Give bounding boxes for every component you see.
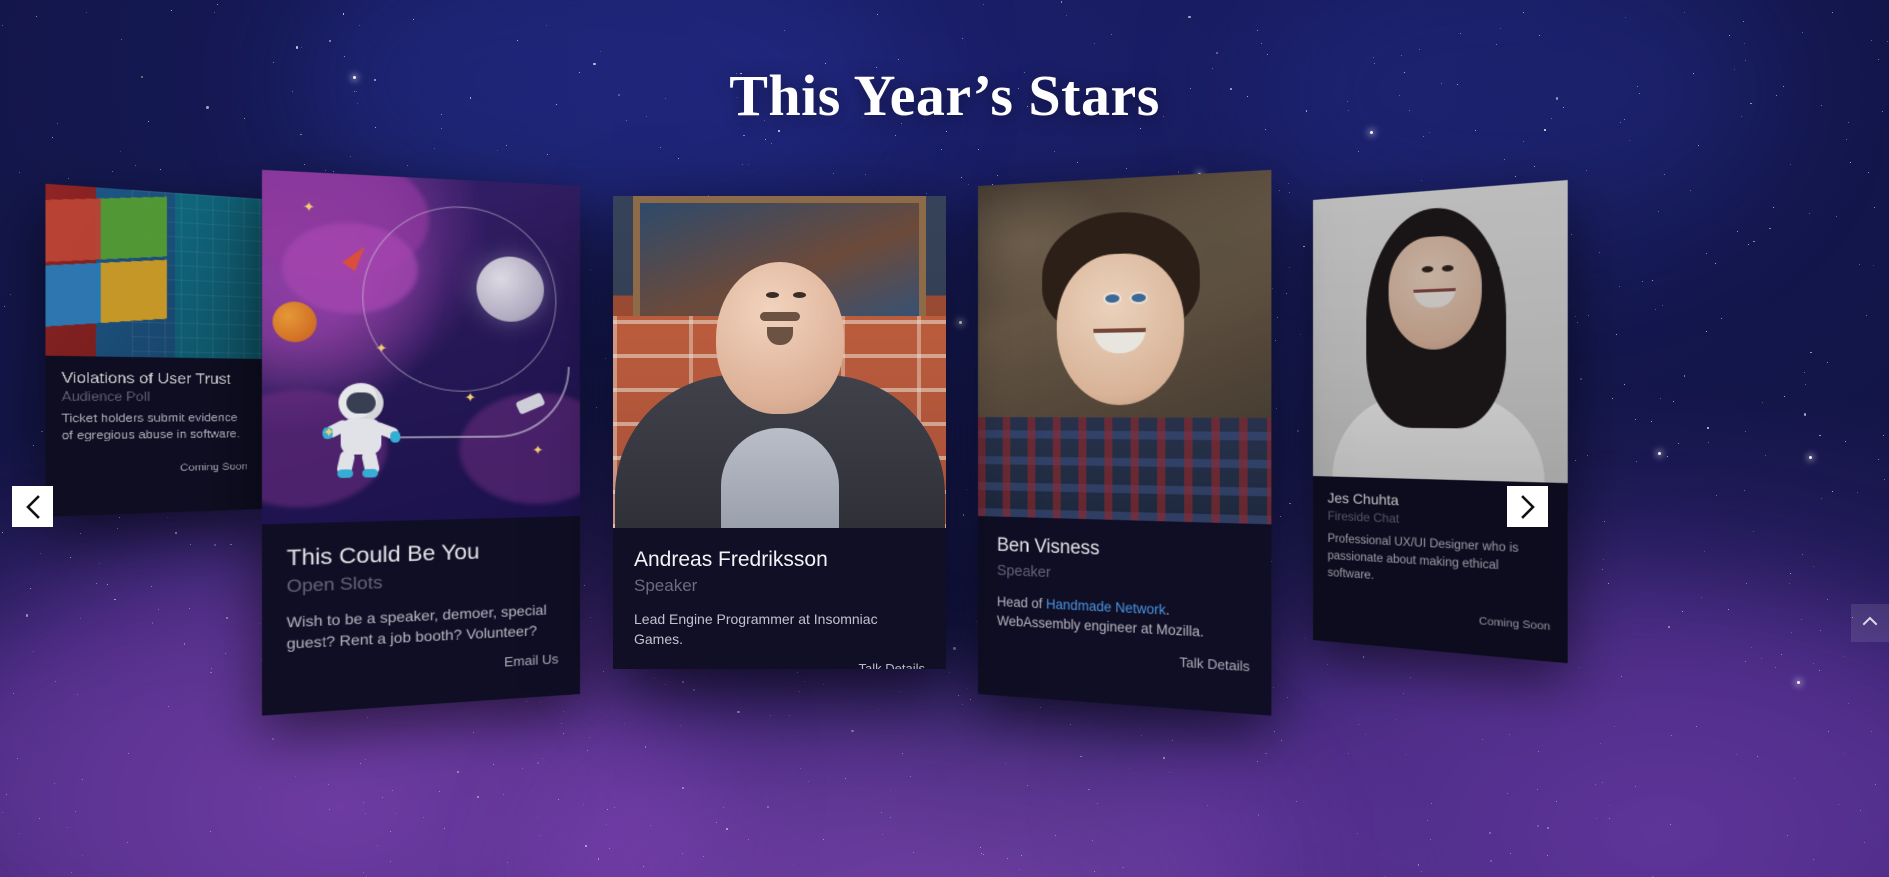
astronaut-space-illustration: ✦ ✦ ✦ ✦ ✦ xyxy=(262,170,580,525)
card-description: Professional UX/UI Designer who is passi… xyxy=(1328,531,1551,596)
card-body: This Could Be You Open Slots Wish to be … xyxy=(262,516,580,702)
tech-collage-image xyxy=(45,184,262,359)
chevron-up-icon xyxy=(1861,614,1879,633)
carousel-next-button[interactable] xyxy=(1507,486,1548,527)
card-description: Ticket holders submit evidence of egregi… xyxy=(62,411,248,446)
chevron-left-icon xyxy=(24,494,42,520)
card-role: Open Slots xyxy=(287,566,559,598)
card-body: Andreas Fredriksson Speaker Lead Engine … xyxy=(613,528,946,669)
ben-visness-photo xyxy=(978,170,1271,525)
card-cta-link[interactable]: Email Us xyxy=(287,651,559,683)
card-role: Speaker xyxy=(634,576,925,596)
card-body: Violations of User Trust Audience Poll T… xyxy=(45,356,262,489)
card-media xyxy=(45,184,262,359)
card-title: Violations of User Trust xyxy=(62,369,248,388)
page-title: This Year’s Stars xyxy=(0,62,1889,129)
carousel-prev-button[interactable] xyxy=(12,486,53,527)
card-cta-link[interactable]: Talk Details xyxy=(634,661,925,669)
card-media xyxy=(978,170,1271,525)
card-cta-link[interactable]: Coming Soon xyxy=(62,461,248,476)
card-cta-link[interactable]: Talk Details xyxy=(997,643,1250,674)
card-media: ✦ ✦ ✦ ✦ ✦ xyxy=(262,170,580,525)
chevron-right-icon xyxy=(1519,494,1537,520)
card-role: Audience Poll xyxy=(62,389,248,404)
speaker-card-violations-of-user-trust[interactable]: Violations of User Trust Audience Poll T… xyxy=(45,184,262,517)
card-role: Speaker xyxy=(997,562,1250,591)
speaker-card-andreas-fredriksson[interactable]: Andreas Fredriksson Speaker Lead Engine … xyxy=(613,196,946,669)
handmade-network-link[interactable]: Handmade Network xyxy=(1046,596,1166,617)
card-description: Wish to be a speaker, demoer, special gu… xyxy=(287,599,559,655)
jes-chuhta-photo xyxy=(1313,180,1568,483)
card-cta-link[interactable]: Coming Soon xyxy=(1328,603,1551,633)
planet-icon xyxy=(272,301,316,342)
desc-prefix: Head of xyxy=(997,594,1046,612)
speaker-card-jes-chuhta[interactable]: Jes Chuhta Fireside Chat Professional UX… xyxy=(1313,180,1568,663)
card-title: Andreas Fredriksson xyxy=(634,547,925,572)
card-description: Lead Engine Programmer at Insomniac Game… xyxy=(634,609,925,650)
back-to-top-button[interactable] xyxy=(1851,604,1889,642)
card-media xyxy=(613,196,946,528)
card-media xyxy=(1313,180,1568,483)
card-body: Ben Visness Speaker Head of Handmade Net… xyxy=(978,516,1271,693)
speakers-carousel: Violations of User Trust Audience Poll T… xyxy=(0,0,1889,877)
speaker-card-this-could-be-you[interactable]: ✦ ✦ ✦ ✦ ✦ This Could Be You Open Slots W… xyxy=(262,170,580,716)
andreas-fredriksson-photo xyxy=(613,196,946,528)
speaker-card-ben-visness[interactable]: Ben Visness Speaker Head of Handmade Net… xyxy=(978,170,1271,716)
card-description: Head of Handmade Network. WebAssembly en… xyxy=(997,592,1250,646)
